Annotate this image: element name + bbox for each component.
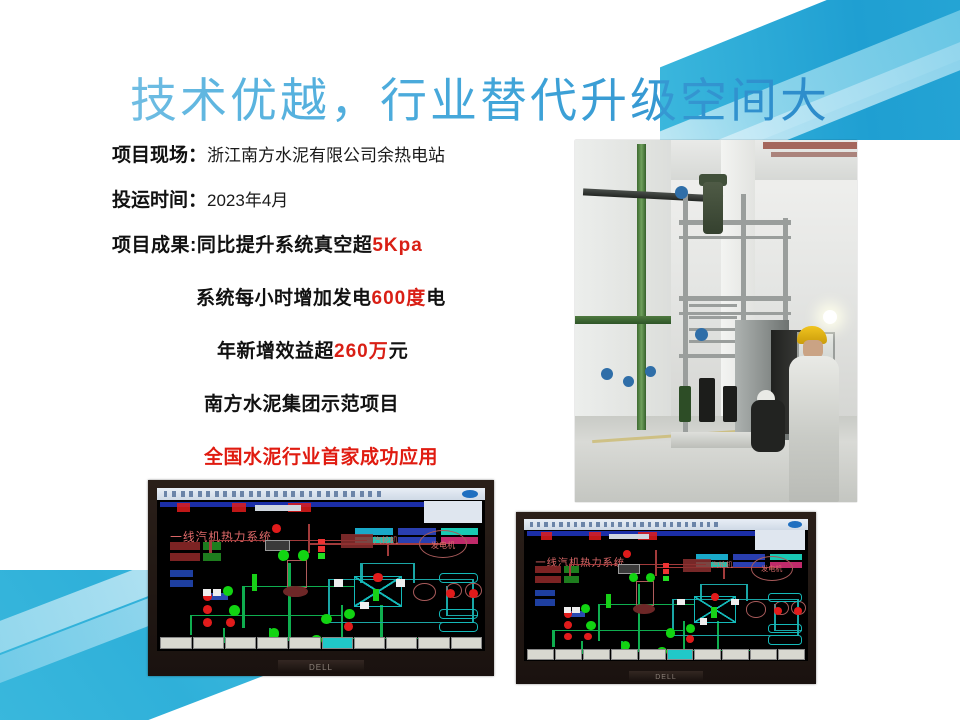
legend-swatch <box>663 563 669 568</box>
alarm-input <box>609 534 649 539</box>
toolbar-icon <box>291 491 295 497</box>
scada-tab-bar[interactable] <box>527 649 805 660</box>
detail-line-power: 系统每小时增加发电600度电 <box>196 283 572 310</box>
status-panel <box>424 501 481 523</box>
scada-screen-left: 一线汽机热力系统汽轮机发电机 <box>157 488 485 651</box>
toolbar-icon <box>589 522 592 527</box>
toolbar-icon <box>368 491 372 497</box>
valve-symbol <box>572 607 579 613</box>
toolbar-icon <box>206 491 210 497</box>
toolbar-icon <box>530 522 533 527</box>
toolbar-icon <box>663 522 666 527</box>
toolbar-icon <box>189 491 193 497</box>
status-lamp-red <box>564 633 572 641</box>
toolbar-icon <box>198 491 202 497</box>
status-lamp-red <box>226 618 235 627</box>
monitor-photo-left: 一线汽机热力系统汽轮机发电机 DELL <box>148 480 494 676</box>
toolbar-icon <box>266 491 270 497</box>
pipe-line <box>242 586 245 628</box>
vacuum-pump-motor <box>703 182 723 234</box>
details-block: 项目现场：浙江南方水泥有限公司余热电站 投运时间：2023年4月 项目成果:同比… <box>112 140 572 486</box>
toolbar-icon <box>537 522 540 527</box>
nav-pill <box>768 593 803 602</box>
cooling-line <box>700 584 745 585</box>
monitor-photo-right: 一线汽机热力系统汽轮机发电机 DELL <box>516 512 816 684</box>
param-label-box <box>170 553 200 561</box>
alarm-block <box>589 532 600 541</box>
worker-yellow-helmet <box>787 326 841 502</box>
param-value-box <box>170 580 193 587</box>
alarm-block <box>541 532 552 541</box>
toolbar-icon <box>559 522 562 527</box>
status-lamp-red <box>584 633 592 641</box>
status-panel <box>755 530 805 549</box>
status-lamp-green <box>298 550 309 561</box>
status-lamp-green <box>686 624 695 633</box>
param-value-box <box>170 570 193 577</box>
toolbar-icon <box>274 491 278 497</box>
slide-root: 技术优越，行业替代升级空间大 项目现场：浙江南方水泥有限公司余热电站 投运时间：… <box>0 0 960 720</box>
scada-tab-系统图[interactable] <box>527 649 554 660</box>
toolbar-icon <box>377 491 381 497</box>
tank-symbol <box>636 581 654 606</box>
param-value-box <box>535 599 555 605</box>
toolbar-icon <box>351 491 355 497</box>
status-lamp-red <box>774 607 782 615</box>
legend-swatch <box>318 546 325 552</box>
turbine-label: 汽轮机 <box>711 560 732 570</box>
scada-tab-系统图[interactable] <box>160 637 191 649</box>
toolbar-icon <box>232 491 236 497</box>
pipe-line <box>683 621 685 652</box>
valve-handwheel-icon <box>675 186 688 199</box>
param-label-box <box>535 576 561 583</box>
status-lamp-red <box>794 607 802 615</box>
scada-tab-循环水系统[interactable] <box>418 637 449 649</box>
green-pipe-vertical <box>637 144 646 430</box>
help-icon <box>788 521 802 528</box>
status-lamp-green <box>344 609 355 620</box>
status-lamp-red <box>711 593 719 601</box>
status-lamp-red <box>623 550 631 558</box>
steam-line <box>569 564 571 575</box>
scada-tab-辅机系统[interactable] <box>611 649 638 660</box>
status-lamp-green <box>223 586 234 597</box>
tank-symbol <box>287 560 307 588</box>
detail-line-date: 投运时间：2023年4月 <box>112 185 572 212</box>
valve-symbol <box>334 579 343 586</box>
toolbar-icon <box>670 522 673 527</box>
valve-symbol <box>203 589 212 596</box>
toolbar-icon <box>300 491 304 497</box>
detail-benefit-text: 年新增效益超 <box>217 341 334 362</box>
steam-line <box>655 550 657 576</box>
toolbar-icon <box>283 491 287 497</box>
detail-power-tail: 电 <box>426 288 446 309</box>
toolbar-icon <box>581 522 584 527</box>
circ-pump-symbol <box>413 583 436 601</box>
toolbar-icon <box>618 522 621 527</box>
level-gauge <box>373 589 379 601</box>
nav-pill <box>439 622 479 632</box>
steam-line <box>308 524 310 553</box>
scada-tab-热力系统图[interactable] <box>583 649 610 660</box>
status-lamp-red <box>272 524 281 533</box>
turbine-block <box>341 534 374 549</box>
pipe-line <box>717 621 719 652</box>
pipe-line <box>552 630 683 631</box>
toolbar-icon <box>633 522 636 527</box>
scada-tab-热力系统图[interactable] <box>225 637 256 649</box>
detail-label-date: 投运时间： <box>112 190 207 211</box>
toolbar-icon <box>707 522 710 527</box>
valve-handwheel-icon <box>623 376 634 387</box>
detail-label-site: 项目现场： <box>112 145 207 166</box>
toolbar-icon <box>317 491 321 497</box>
toolbar-icon <box>334 491 338 497</box>
detail-result-highlight: 5Kpa <box>372 235 422 256</box>
scada-tab-循环水系统[interactable] <box>750 649 777 660</box>
param-value-box <box>564 576 580 583</box>
cooling-line <box>746 584 748 601</box>
status-lamp-green <box>646 573 655 582</box>
valve-symbol <box>731 599 738 605</box>
level-gauge <box>711 607 716 618</box>
toolbar-icon <box>164 491 168 497</box>
toolbar-icon <box>326 491 330 497</box>
toolbar-icon <box>677 522 680 527</box>
scada-tab-汽机本体系统[interactable] <box>555 649 582 660</box>
legend-swatch <box>663 576 669 581</box>
toolbar-icon <box>257 491 261 497</box>
scada-tab-参数总览[interactable] <box>451 637 482 649</box>
status-lamp-red <box>203 605 212 614</box>
valve-symbol <box>677 599 684 605</box>
param-label-box <box>535 566 561 573</box>
scada-tab-电气主接线[interactable] <box>386 637 417 649</box>
scada-tab-汽机本体系统[interactable] <box>193 637 224 649</box>
green-pipe-horizontal <box>575 316 671 324</box>
toolbar-icon <box>596 522 599 527</box>
scada-screen-right: 一线汽机热力系统汽轮机发电机 <box>524 519 808 661</box>
toolbar-icon <box>604 522 607 527</box>
valve-handwheel-icon <box>645 366 656 377</box>
toolbar-icon <box>567 522 570 527</box>
alarm-block <box>177 503 190 513</box>
generator-label: 发电机 <box>761 564 782 574</box>
plant-photo <box>575 140 857 502</box>
valve-box <box>618 564 640 574</box>
toolbar-icon <box>655 522 658 527</box>
param-value-box <box>203 553 221 561</box>
detail-label-result: 项目成果: <box>112 235 197 256</box>
toolbar-icon <box>685 522 688 527</box>
toolbar-icon <box>360 491 364 497</box>
scada-tab-除氧给水[interactable] <box>639 649 666 660</box>
valve-symbol <box>564 607 571 613</box>
valve-handwheel-icon <box>695 328 708 341</box>
ceiling-beam-2 <box>771 152 857 157</box>
toolbar-icon <box>544 522 547 527</box>
steam-line <box>209 540 211 553</box>
toolbar-icon <box>626 522 629 527</box>
scada-tab-参数总览[interactable] <box>778 649 805 660</box>
toolbar-icon <box>309 491 313 497</box>
cooling-line <box>360 563 412 564</box>
pipe-line <box>552 630 554 647</box>
detail-benefit-highlight: 260万 <box>334 341 389 362</box>
status-lamp-green <box>581 604 590 613</box>
detail-power-highlight: 600度 <box>372 288 427 309</box>
toolbar-icon <box>714 522 717 527</box>
nav-pill <box>439 609 479 619</box>
worker-crouching <box>751 390 785 452</box>
detail-value-site: 浙江南方水泥有限公司余热电站 <box>207 146 445 165</box>
ceiling-beam <box>763 142 857 149</box>
scada-tab-二线汽机系统[interactable] <box>694 649 721 660</box>
toolbar-icon <box>552 522 555 527</box>
pipe-line <box>598 604 600 641</box>
legend-swatch <box>318 539 325 545</box>
legend-swatch <box>663 569 669 574</box>
turbine-block <box>683 559 711 572</box>
status-lamp-green <box>666 628 675 637</box>
turbine-label: 汽轮机 <box>373 535 397 546</box>
toolbar-icon <box>181 491 185 497</box>
param-value-box <box>203 542 221 550</box>
toolbar-icon <box>574 522 577 527</box>
toolbar-icon <box>240 491 244 497</box>
alarm-block <box>232 503 245 513</box>
cooling-line <box>413 563 415 583</box>
valve-symbol <box>213 589 222 596</box>
detail-value-date: 2023年4月 <box>207 191 288 210</box>
slide-title: 技术优越，行业替代升级空间大 <box>0 62 960 131</box>
alarm-input <box>255 505 301 511</box>
pump-skid <box>675 368 751 436</box>
valve-symbol <box>396 579 405 586</box>
tank-bottom <box>633 604 654 614</box>
status-lamp-red <box>344 622 353 631</box>
toolbar-icon <box>215 491 219 497</box>
toolbar-icon <box>343 491 347 497</box>
status-lamp-red <box>446 589 455 598</box>
scada-tab-辅机系统[interactable] <box>257 637 288 649</box>
monitor-brand-label: DELL <box>309 663 333 672</box>
legend-swatch <box>318 553 325 559</box>
scada-tab-一线汽机热力系统[interactable] <box>667 649 694 660</box>
valve-handwheel-icon <box>601 368 613 380</box>
level-gauge <box>252 574 257 590</box>
scada-tab-一线汽机热力系统[interactable] <box>322 637 353 649</box>
status-lamp-green <box>321 614 332 625</box>
pipe-line <box>341 605 344 641</box>
monitor-brand-label: DELL <box>655 674 677 681</box>
status-lamp-red <box>469 589 478 598</box>
detail-benefit-tail: 元 <box>389 341 409 362</box>
detail-line-result: 项目成果:同比提升系统真空超5Kpa <box>112 230 572 257</box>
status-lamp-red <box>373 573 382 582</box>
detail-power-text: 系统每小时增加发电 <box>196 288 372 309</box>
status-lamp-red <box>564 621 572 629</box>
detail-line-site: 项目现场：浙江南方水泥有限公司余热电站 <box>112 140 572 167</box>
scada-tab-电气主接线[interactable] <box>722 649 749 660</box>
detail-result-text: 同比提升系统真空超 <box>197 235 373 256</box>
tank-bottom <box>283 586 308 597</box>
valve-box <box>265 540 290 551</box>
toolbar-icon <box>648 522 651 527</box>
toolbar-icon <box>692 522 695 527</box>
toolbar-icon <box>172 491 176 497</box>
toolbar-icon <box>700 522 703 527</box>
detail-line-demo: 南方水泥集团示范项目 <box>204 389 572 416</box>
toolbar-icon <box>611 522 614 527</box>
param-value-box <box>564 566 580 573</box>
pipe-line <box>190 615 193 635</box>
status-lamp-red <box>203 618 212 627</box>
param-label-box <box>170 542 200 550</box>
valve-symbol <box>700 618 707 624</box>
generator-label: 发电机 <box>431 540 455 551</box>
toolbar-icon <box>249 491 253 497</box>
toolbar-icon <box>223 491 227 497</box>
param-value-box <box>535 590 555 596</box>
wall-left <box>575 140 671 450</box>
status-lamp-green <box>229 605 240 616</box>
scada-tab-二线汽机系统[interactable] <box>354 637 385 649</box>
pump-base <box>671 432 757 448</box>
nav-pill <box>768 635 803 644</box>
valve-symbol <box>360 602 369 609</box>
status-lamp-red <box>686 635 694 643</box>
scada-tab-除氧给水[interactable] <box>289 637 320 649</box>
detail-line-benefit: 年新增效益超260万元 <box>217 336 572 363</box>
detail-line-first: 全国水泥行业首家成功应用 <box>204 442 572 469</box>
nav-pill <box>439 573 479 583</box>
status-lamp-green <box>278 550 289 561</box>
level-gauge <box>606 594 611 608</box>
circ-pump-symbol <box>746 601 766 617</box>
ceiling-light <box>823 310 837 324</box>
nav-pill <box>768 624 803 633</box>
pipe-line <box>380 605 383 641</box>
toolbar-icon <box>640 522 643 527</box>
scada-tab-bar[interactable] <box>160 637 481 649</box>
pipe-line <box>190 615 341 616</box>
